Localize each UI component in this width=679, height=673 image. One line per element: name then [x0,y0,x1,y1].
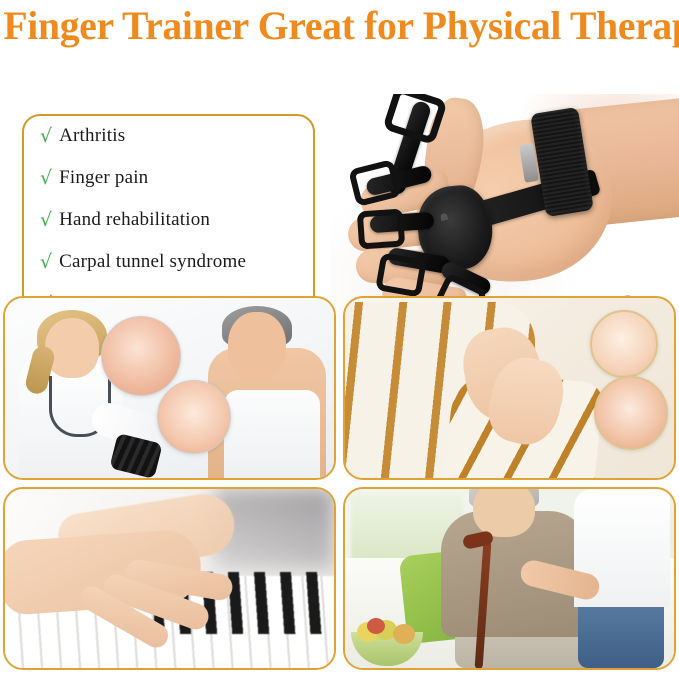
usage-gallery [0,293,679,673]
inset-finger-pain-closeup [157,380,231,454]
patient-tank-top [224,390,320,480]
check-icon: √ [40,211,52,230]
gallery-cell-elderly-assistance [343,487,676,671]
benefit-label: Arthritis [59,125,125,147]
inset-palm-pain-closeup [594,376,668,450]
check-icon: √ [40,127,52,146]
page-title: Finger Trainer Great for Physical Therap… [3,2,675,52]
doctor-head [45,318,99,378]
hero-section: √ Arthritis √ Finger pain √ Hand rehabil… [0,50,679,290]
benefit-label: Carpal tunnel syndrome [59,251,246,273]
check-icon: √ [40,169,52,188]
trainer-loop-ring [375,252,427,297]
inset-hand-pain-closeup [101,316,181,396]
patient-head [228,312,286,380]
benefit-item-finger-pain: √ Finger pain [40,167,312,209]
fruit-icon [367,618,385,634]
gallery-cell-doctor-examining-patient [3,296,336,480]
fruit-icon [393,624,415,644]
elderly-man-head [473,487,535,537]
benefit-item-arthritis: √ Arthritis [40,125,312,167]
inset-thumb-pain-closeup [590,310,658,378]
benefit-item-hand-rehabilitation: √ Hand rehabilitation [40,209,312,251]
gallery-cell-piano-playing [3,487,336,671]
benefit-item-carpal-tunnel-syndrome: √ Carpal tunnel syndrome [40,251,312,293]
benefit-label: Finger pain [59,167,148,189]
trainer-loop-middle [357,208,406,249]
check-icon: √ [40,253,52,272]
gallery-cell-woman-wrist-pain [343,296,676,480]
product-marketing-image: Finger Trainer Great for Physical Therap… [0,0,679,673]
benefit-label: Hand rehabilitation [59,209,210,231]
